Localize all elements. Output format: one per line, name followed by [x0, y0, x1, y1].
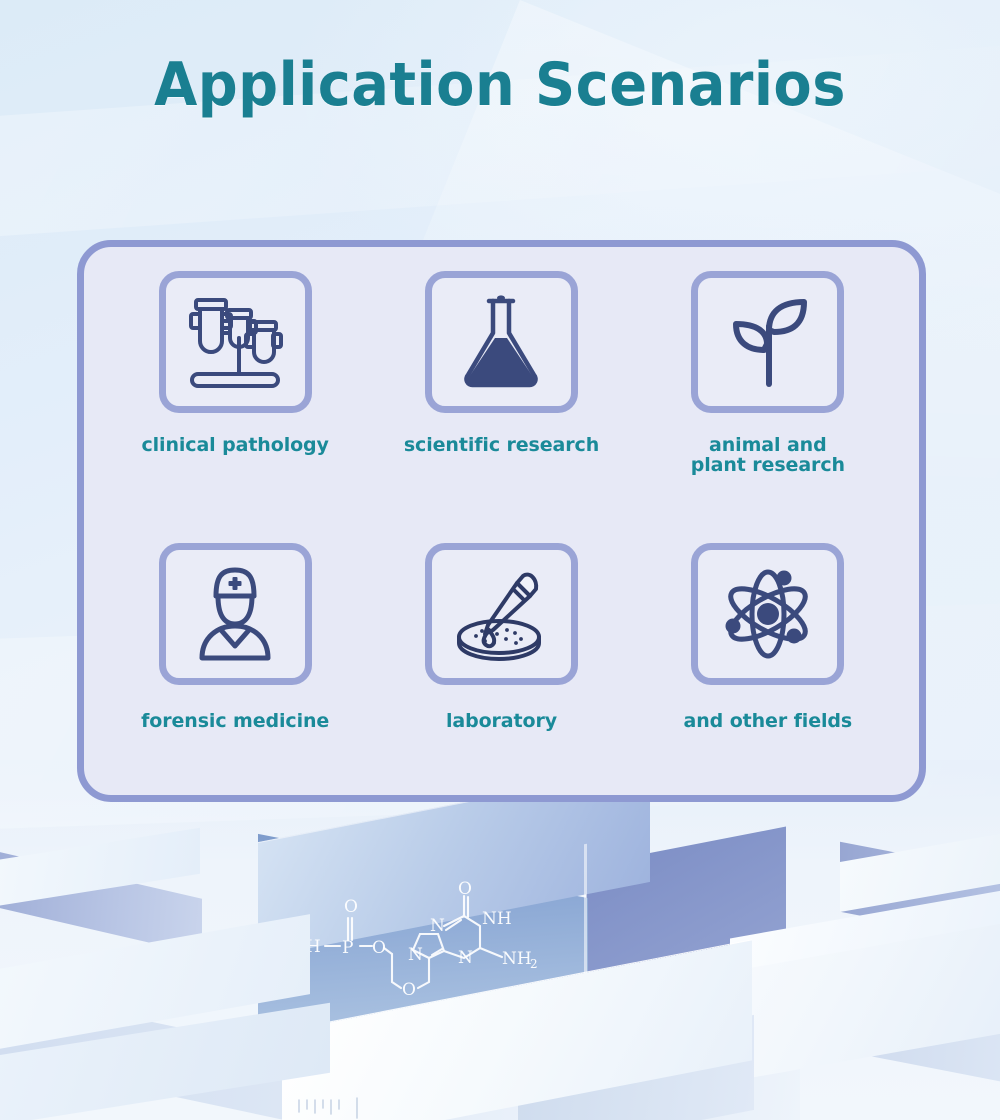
icon-box-laboratory[interactable]: [425, 543, 578, 685]
scenario-label: forensic medicine: [141, 711, 329, 732]
scenario-label: and other fields: [684, 711, 853, 732]
scenario-label: laboratory: [446, 711, 557, 732]
scenario-item-animal-plant-research[interactable]: animal and plant research: [635, 271, 901, 525]
icon-box-scientific-research[interactable]: [425, 271, 578, 413]
scenario-item-forensic-medicine[interactable]: forensic medicine: [102, 525, 368, 779]
icon-box-clinical-pathology[interactable]: [159, 271, 312, 413]
scenario-item-clinical-pathology[interactable]: clinical pathology: [102, 271, 368, 525]
scenario-label: scientific research: [404, 435, 599, 456]
icon-box-other-fields[interactable]: [691, 543, 844, 685]
scenario-item-scientific-research[interactable]: scientific research: [368, 271, 634, 525]
scenario-label: clinical pathology: [141, 435, 328, 456]
atom-icon: [718, 564, 818, 664]
erlenmeyer-flask-icon: [451, 291, 551, 393]
tick-marks-graphic: [295, 1096, 415, 1120]
icon-box-forensic-medicine[interactable]: [159, 543, 312, 685]
medical-professional-icon: [185, 564, 285, 664]
pipette-petri-dish-icon: [449, 564, 553, 664]
scenario-grid: clinical pathology scientific research: [84, 247, 919, 795]
test-tube-rack-icon: [180, 292, 290, 392]
application-scenarios-panel: clinical pathology scientific research: [77, 240, 926, 802]
scenario-label: animal and plant research: [691, 435, 845, 475]
icon-box-animal-plant-research[interactable]: [691, 271, 844, 413]
page-title: Application Scenarios: [35, 48, 965, 122]
sprout-plant-icon: [718, 292, 818, 392]
scenario-item-other-fields[interactable]: and other fields: [635, 525, 901, 779]
scenario-item-laboratory[interactable]: laboratory: [368, 525, 634, 779]
